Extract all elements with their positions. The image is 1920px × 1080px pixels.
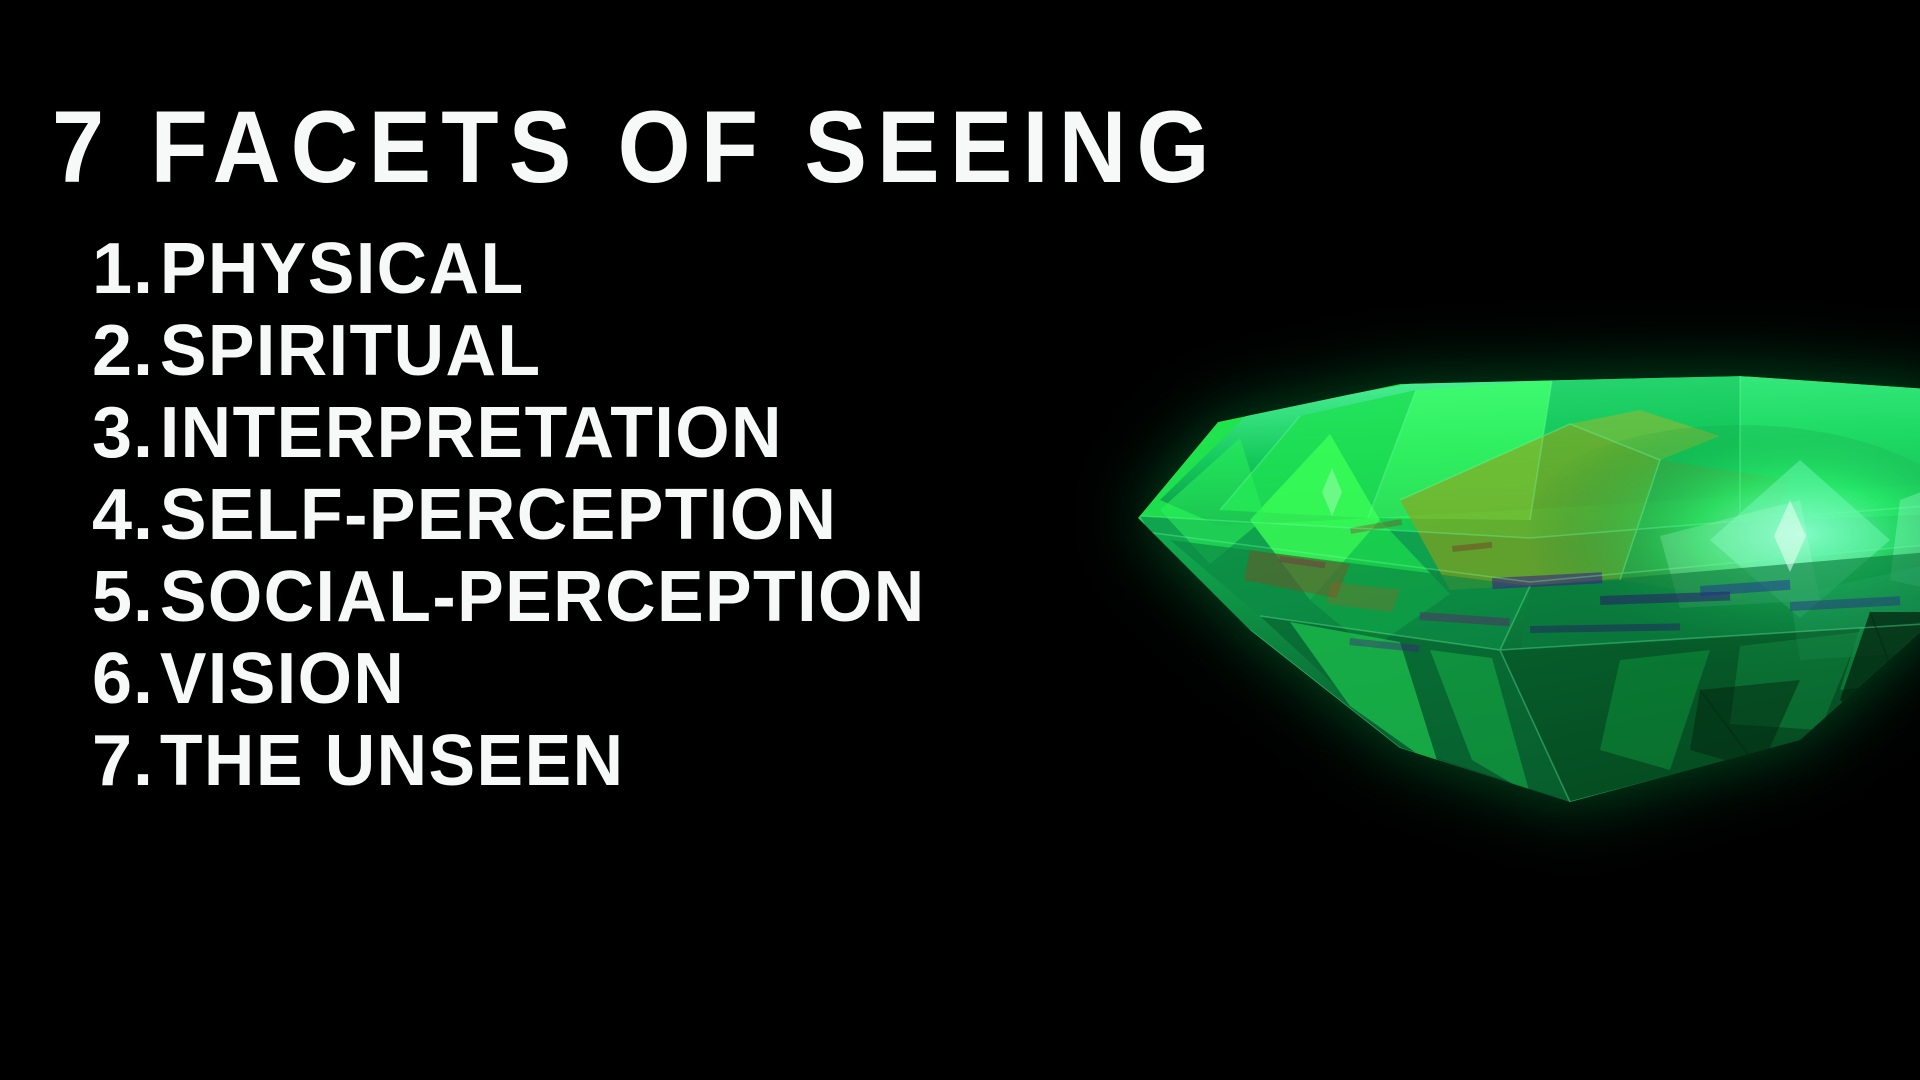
list-item-label: SELF-PERCEPTION — [154, 474, 837, 556]
list-item-number: 7. — [66, 720, 154, 802]
list-item-number: 2. — [66, 310, 154, 392]
list-item-label: PHYSICAL — [154, 228, 525, 310]
list-item: 1. PHYSICAL — [66, 228, 950, 310]
list-item-number: 5. — [66, 556, 154, 638]
emerald-gem-graphic — [1100, 350, 1920, 830]
list-item: 5. SOCIAL-PERCEPTION — [66, 556, 950, 638]
list-item-number: 1. — [66, 228, 154, 310]
list-item-label: SPIRITUAL — [154, 310, 542, 392]
list-item: 3. INTERPRETATION — [66, 392, 950, 474]
gem-glow — [1250, 420, 1810, 750]
list-item-label: VISION — [154, 638, 405, 720]
slide-canvas: 7 FACETS OF SEEING 1. PHYSICAL 2. SPIRIT… — [0, 0, 1920, 1080]
page-title: 7 FACETS OF SEEING — [52, 94, 1248, 201]
list-item: 7. THE UNSEEN — [66, 720, 950, 802]
list-item-label: SOCIAL-PERCEPTION — [154, 556, 926, 638]
facet-list: 1. PHYSICAL 2. SPIRITUAL 3. INTERPRETATI… — [66, 228, 950, 802]
emerald-gem-icon — [1100, 350, 1920, 830]
list-item-number: 6. — [66, 638, 154, 720]
list-item: 2. SPIRITUAL — [66, 310, 950, 392]
list-item-number: 4. — [66, 474, 154, 556]
list-item: 4. SELF-PERCEPTION — [66, 474, 950, 556]
list-item: 6. VISION — [66, 638, 950, 720]
list-item-number: 3. — [66, 392, 154, 474]
list-item-label: INTERPRETATION — [154, 392, 783, 474]
list-item-label: THE UNSEEN — [154, 720, 625, 802]
